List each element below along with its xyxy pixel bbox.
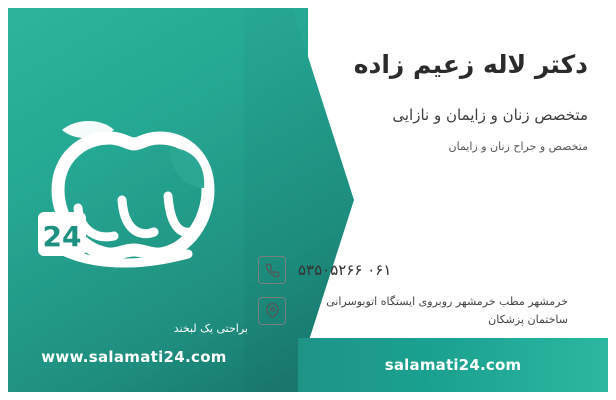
address-text: خرمشهر مطب خرمشهر روبروی ایستگاه اتوبوسر…: [298, 293, 568, 328]
footer-bar: salamati24.com: [298, 338, 608, 392]
logo-website[interactable]: www.salamati24.com: [26, 348, 242, 366]
apple-logo-icon: 24: [18, 104, 248, 294]
footer-site[interactable]: salamati24.com: [298, 338, 608, 392]
specialty-primary: متخصص زنان و زایمان و نازایی: [258, 106, 588, 124]
business-card: 24 براحتی یک لبخند www.salamati24.com دک…: [0, 0, 616, 400]
phone-row[interactable]: ۰۶۱ ۵۳۵۰۵۲۶۶: [258, 256, 588, 284]
location-pin-icon: [258, 297, 286, 325]
phone-icon: [258, 256, 286, 284]
phone-number: ۰۶۱ ۵۳۵۰۵۲۶۶: [298, 261, 391, 279]
logo-badge-number: 24: [43, 220, 82, 253]
brand-logo: 24 براحتی یک لبخند www.salamati24.com: [18, 104, 248, 294]
logo-tagline: براحتی یک لبخند: [118, 322, 248, 335]
address-row[interactable]: خرمشهر مطب خرمشهر روبروی ایستگاه اتوبوسر…: [258, 293, 588, 328]
card-inner: 24 براحتی یک لبخند www.salamati24.com دک…: [8, 8, 608, 392]
doctor-name: دکتر لاله زعیم زاده: [258, 50, 588, 79]
specialty-secondary: متخصص و جراح زنان و زایمان: [258, 140, 588, 153]
